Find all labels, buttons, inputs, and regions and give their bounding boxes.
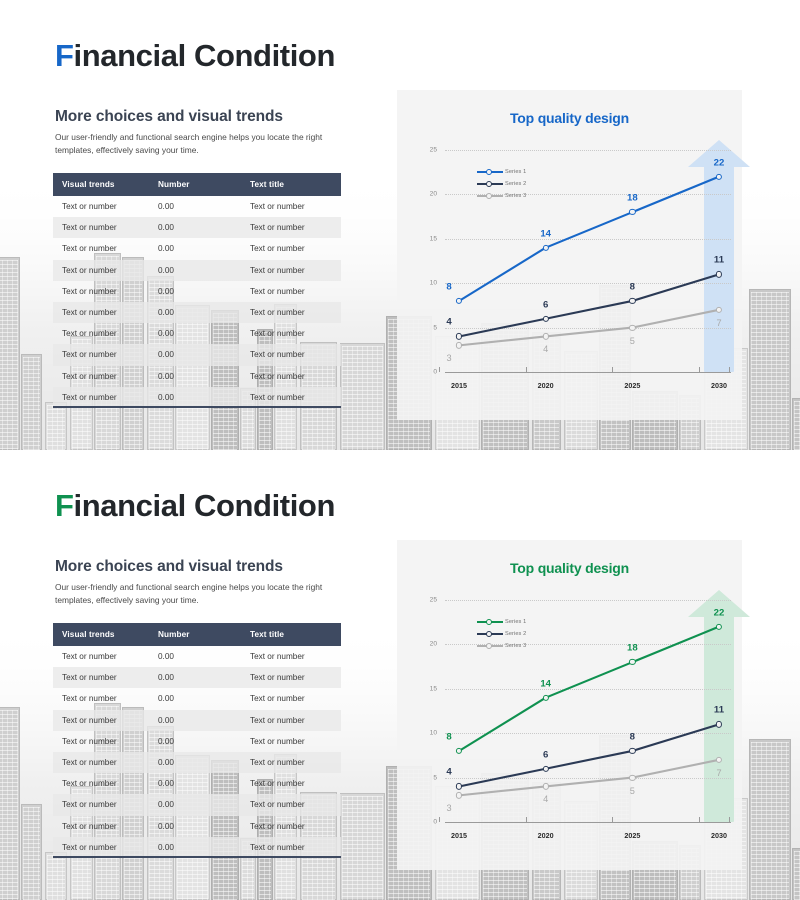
- table-row: Text or number0.00Text or number: [53, 387, 341, 408]
- table-row: Text or number0.00Text or number: [53, 710, 341, 731]
- table-cell: Text or number: [53, 667, 149, 688]
- table-cell: Text or number: [53, 688, 149, 709]
- building-silhouette: [21, 804, 42, 900]
- table-cell: 0.00: [149, 752, 241, 773]
- table-cell: Text or number: [241, 217, 341, 238]
- table-cell: Text or number: [241, 646, 341, 667]
- legend-dot-icon: [486, 169, 492, 175]
- table-header-row: Visual trendsNumberText title: [53, 623, 341, 646]
- section-heading: More choices and visual trends: [55, 108, 283, 126]
- chart-legend: Series 1Series 2Series 3: [477, 616, 526, 652]
- slide-deck: Financial ConditionMore choices and visu…: [0, 0, 800, 900]
- table-cell: Text or number: [241, 281, 341, 302]
- table-cell: Text or number: [241, 344, 341, 365]
- legend-marker-icon: [477, 633, 503, 635]
- data-point-label: 22: [714, 607, 725, 618]
- table-row: Text or number0.00Text or number: [53, 731, 341, 752]
- table-cell: 0.00: [149, 260, 241, 281]
- table-cell: Text or number: [53, 752, 149, 773]
- table-cell: 0.00: [149, 302, 241, 323]
- building-silhouette: [0, 257, 20, 450]
- section-description: Our user-friendly and functional search …: [55, 581, 345, 607]
- section-description: Our user-friendly and functional search …: [55, 131, 345, 157]
- building-silhouette: [45, 852, 67, 900]
- table-cell: Text or number: [241, 387, 341, 408]
- table-header-cell: Visual trends: [53, 623, 149, 646]
- data-point-label: 8: [446, 731, 451, 742]
- table-row: Text or number0.00Text or number: [53, 773, 341, 794]
- table-cell: Text or number: [53, 646, 149, 667]
- table-cell: 0.00: [149, 731, 241, 752]
- data-point-label: 4: [446, 317, 451, 328]
- table-cell: Text or number: [241, 323, 341, 344]
- table-cell: Text or number: [53, 794, 149, 815]
- data-point-label: 4: [543, 794, 548, 804]
- data-point-label: 6: [543, 299, 548, 310]
- table-cell: Text or number: [53, 366, 149, 387]
- table-cell: Text or number: [241, 752, 341, 773]
- building-silhouette: [749, 289, 791, 450]
- table-cell: 0.00: [149, 773, 241, 794]
- table-cell: Text or number: [241, 688, 341, 709]
- table-row: Text or number0.00Text or number: [53, 688, 341, 709]
- legend-item[interactable]: Series 3: [477, 190, 526, 202]
- legend-marker-icon: [477, 183, 503, 185]
- building-silhouette: [21, 354, 42, 450]
- page-title: Financial Condition: [55, 488, 335, 524]
- table-header-cell: Text title: [241, 173, 341, 196]
- series-line: [459, 274, 719, 336]
- table-cell: Text or number: [53, 302, 149, 323]
- legend-dot-icon: [486, 193, 492, 199]
- table-cell: Text or number: [241, 837, 341, 858]
- data-point-label: 22: [714, 157, 725, 168]
- data-point-label: 11: [714, 255, 724, 266]
- table-cell: Text or number: [241, 302, 341, 323]
- chart-title: Top quality design: [397, 110, 742, 126]
- building-silhouette: [749, 739, 791, 900]
- chart-plot-area: 0510152025201520202025203081418224681134…: [419, 140, 731, 402]
- building-silhouette: [45, 402, 67, 450]
- table-cell: Text or number: [241, 260, 341, 281]
- legend-dot-icon: [486, 643, 492, 649]
- legend-label: Series 2: [505, 181, 526, 187]
- table-row: Text or number0.00Text or number: [53, 837, 341, 858]
- table-header-cell: Visual trends: [53, 173, 149, 196]
- legend-dot-icon: [486, 631, 492, 637]
- table-row: Text or number0.00Text or number: [53, 323, 341, 344]
- table-cell: 0.00: [149, 816, 241, 837]
- building-silhouette: [0, 707, 20, 900]
- table-cell: 0.00: [149, 196, 241, 217]
- building-silhouette: [340, 793, 385, 900]
- table-header-cell: Text title: [241, 623, 341, 646]
- chart-series-lines: [419, 140, 731, 402]
- building-silhouette: [792, 398, 800, 450]
- legend-label: Series 1: [505, 619, 526, 625]
- chart-card: Top quality design0510152025201520202025…: [397, 540, 742, 870]
- table-row: Text or number0.00Text or number: [53, 281, 341, 302]
- data-table: Visual trendsNumberText titleText or num…: [53, 623, 341, 858]
- chart-series-lines: [419, 590, 731, 852]
- data-point-label: 14: [540, 228, 551, 239]
- table-cell: 0.00: [149, 387, 241, 408]
- table-cell: Text or number: [241, 710, 341, 731]
- table-header-cell: Number: [149, 623, 241, 646]
- data-point-label: 3: [446, 353, 451, 363]
- data-point-label: 3: [446, 803, 451, 813]
- title-lead-letter: F: [55, 488, 74, 523]
- table-row: Text or number0.00Text or number: [53, 667, 341, 688]
- data-point-label: 11: [714, 705, 724, 716]
- table-cell: 0.00: [149, 837, 241, 858]
- table-bottom-rule: [53, 406, 341, 408]
- table-cell: Text or number: [53, 731, 149, 752]
- data-point-label: 7: [716, 768, 721, 778]
- legend-label: Series 1: [505, 169, 526, 175]
- legend-item[interactable]: Series 1: [477, 616, 526, 628]
- data-point-label: 4: [446, 767, 451, 778]
- table-cell: Text or number: [241, 366, 341, 387]
- table-cell: Text or number: [241, 238, 341, 259]
- table-row: Text or number0.00Text or number: [53, 752, 341, 773]
- table-row: Text or number0.00Text or number: [53, 260, 341, 281]
- series-line: [459, 724, 719, 786]
- legend-item[interactable]: Series 2: [477, 178, 526, 190]
- table-row: Text or number0.00Text or number: [53, 238, 341, 259]
- legend-marker-icon: [477, 195, 503, 197]
- table-cell: 0.00: [149, 646, 241, 667]
- table-cell: 0.00: [149, 217, 241, 238]
- data-point-label: 8: [630, 731, 635, 742]
- table-bottom-rule: [53, 856, 341, 858]
- data-point-label: 14: [540, 678, 551, 689]
- slide-panel-1: Financial ConditionMore choices and visu…: [0, 0, 800, 450]
- table-cell: Text or number: [53, 387, 149, 408]
- table-cell: Text or number: [53, 217, 149, 238]
- table-cell: Text or number: [53, 773, 149, 794]
- table-row: Text or number0.00Text or number: [53, 816, 341, 837]
- table-cell: Text or number: [53, 238, 149, 259]
- data-point-label: 8: [446, 281, 451, 292]
- page-title: Financial Condition: [55, 38, 335, 74]
- table-row: Text or number0.00Text or number: [53, 344, 341, 365]
- table-cell: Text or number: [241, 816, 341, 837]
- legend-dot-icon: [486, 181, 492, 187]
- table-cell: Text or number: [241, 667, 341, 688]
- table-cell: Text or number: [53, 344, 149, 365]
- table-row: Text or number0.00Text or number: [53, 217, 341, 238]
- legend-label: Series 3: [505, 193, 526, 199]
- table-cell: 0.00: [149, 281, 241, 302]
- table-cell: Text or number: [241, 731, 341, 752]
- legend-item[interactable]: Series 3: [477, 640, 526, 652]
- section-heading: More choices and visual trends: [55, 558, 283, 576]
- legend-item[interactable]: Series 2: [477, 628, 526, 640]
- title-rest: inancial Condition: [74, 38, 335, 73]
- data-point-label: 18: [627, 193, 638, 204]
- legend-item[interactable]: Series 1: [477, 166, 526, 178]
- legend-label: Series 3: [505, 643, 526, 649]
- table-cell: Text or number: [53, 260, 149, 281]
- table-cell: Text or number: [241, 794, 341, 815]
- legend-dot-icon: [486, 619, 492, 625]
- data-point-label: 4: [543, 344, 548, 354]
- table-cell: Text or number: [53, 816, 149, 837]
- table-cell: Text or number: [241, 773, 341, 794]
- data-point-label: 8: [630, 281, 635, 292]
- table-cell: 0.00: [149, 323, 241, 344]
- table-cell: 0.00: [149, 366, 241, 387]
- table-header-cell: Number: [149, 173, 241, 196]
- table-cell: Text or number: [53, 281, 149, 302]
- title-rest: inancial Condition: [74, 488, 335, 523]
- data-point-label: 5: [630, 786, 635, 796]
- table-cell: Text or number: [53, 837, 149, 858]
- data-point-label: 7: [716, 318, 721, 328]
- slide-panel-2: Financial ConditionMore choices and visu…: [0, 450, 800, 900]
- legend-marker-icon: [477, 171, 503, 173]
- table-cell: 0.00: [149, 710, 241, 731]
- table-row: Text or number0.00Text or number: [53, 196, 341, 217]
- data-point-label: 5: [630, 336, 635, 346]
- table-row: Text or number0.00Text or number: [53, 794, 341, 815]
- table-cell: Text or number: [53, 323, 149, 344]
- data-point-label: 6: [543, 749, 548, 760]
- table-cell: Text or number: [241, 196, 341, 217]
- table-row: Text or number0.00Text or number: [53, 302, 341, 323]
- building-silhouette: [792, 848, 800, 900]
- table-cell: 0.00: [149, 344, 241, 365]
- legend-marker-icon: [477, 621, 503, 623]
- table-row: Text or number0.00Text or number: [53, 366, 341, 387]
- table-header-row: Visual trendsNumberText title: [53, 173, 341, 196]
- chart-plot-area: 0510152025201520202025203081418224681134…: [419, 590, 731, 852]
- legend-label: Series 2: [505, 631, 526, 637]
- legend-marker-icon: [477, 645, 503, 647]
- chart-legend: Series 1Series 2Series 3: [477, 166, 526, 202]
- table-row: Text or number0.00Text or number: [53, 646, 341, 667]
- building-silhouette: [340, 343, 385, 450]
- table-cell: Text or number: [53, 710, 149, 731]
- data-table: Visual trendsNumberText titleText or num…: [53, 173, 341, 408]
- table-cell: 0.00: [149, 667, 241, 688]
- title-lead-letter: F: [55, 38, 74, 73]
- data-point-label: 18: [627, 643, 638, 654]
- table-cell: 0.00: [149, 688, 241, 709]
- table-cell: 0.00: [149, 794, 241, 815]
- table-cell: Text or number: [53, 196, 149, 217]
- table-cell: 0.00: [149, 238, 241, 259]
- chart-title: Top quality design: [397, 560, 742, 576]
- chart-card: Top quality design0510152025201520202025…: [397, 90, 742, 420]
